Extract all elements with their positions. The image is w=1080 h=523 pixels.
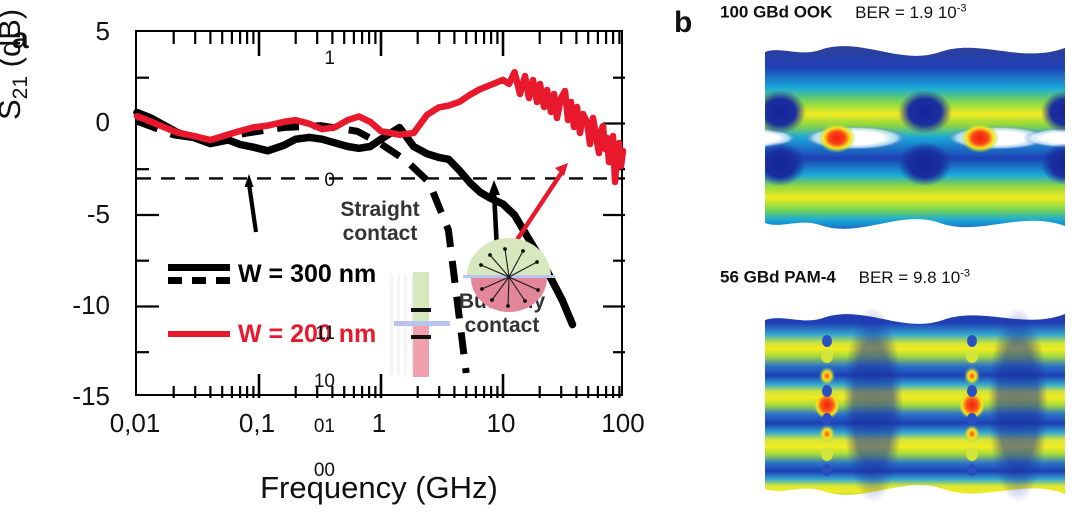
inset-straight-contact-schematic	[408, 272, 434, 377]
legend-key-dashed-black	[168, 277, 230, 284]
y-tick-label: -10	[62, 290, 110, 321]
inset-straight-upper-contact	[411, 308, 431, 312]
eye-pam4-level-label: 01	[289, 416, 335, 438]
eye-pam4-title: 56 GBd PAM-4 BER = 9.8 10-3	[720, 267, 1080, 288]
annotation-straight-contact: Straight contact	[325, 198, 435, 245]
inset-straight-upper-bar	[413, 272, 429, 324]
eye-ook-title: 100 GBd OOK BER = 1.9 10-3	[720, 2, 1080, 23]
legend-key-solid-black	[168, 264, 230, 271]
panel-a-s21-plot: a S21 (dB) 5 0 -5 -10 -15 0,01 0,1 1 10 …	[0, 0, 660, 523]
legend-row-w200: W = 200 nm	[168, 317, 376, 351]
y-axis-title: S21 (dB)	[0, 0, 33, 120]
eye-pam4-ber-exponent: -3	[960, 267, 970, 279]
eye-pam4-canvas	[765, 300, 1065, 510]
y-tick-label: -15	[62, 381, 110, 412]
annotation-straight-line1: Straight	[325, 198, 435, 222]
legend-label-w300: W = 300 nm	[238, 260, 376, 289]
eye-ook-ber-value: BER = 1.9 10	[855, 3, 957, 22]
legend-key-solid-red	[168, 331, 230, 337]
inset-straight-waveguide	[394, 321, 450, 326]
eye-ook-ber: BER = 1.9 10-3	[855, 3, 966, 22]
panel-b-label: b	[674, 6, 692, 40]
arrow-straight-contact	[245, 174, 257, 232]
panel-b-eye-diagrams: b 100 GBd OOK BER = 1.9 10-3 1 0	[660, 0, 1080, 523]
x-tick-label: 1	[372, 408, 386, 439]
inset-straight-lower-contact	[411, 335, 431, 339]
eye-ook-mode: 100 GBd OOK	[720, 3, 832, 22]
eye-pam4-ber: BER = 9.8 10-3	[859, 268, 970, 287]
butterfly-upper-lobe	[467, 238, 551, 276]
eye-ook-canvas	[765, 30, 1065, 245]
x-tick-label: 0,01	[110, 408, 161, 439]
y-tick-label: 5	[62, 16, 110, 47]
x-tick-label: 0,1	[239, 408, 275, 439]
eye-ook-level-label: 0	[289, 170, 335, 192]
annotation-straight-line2: contact	[325, 222, 435, 246]
legend-row-w300: W = 300 nm	[168, 257, 376, 291]
inset-butterfly-contact-schematic	[461, 232, 557, 316]
annotation-butterfly-line2: contact	[443, 314, 561, 338]
eye-pam4-mode: 56 GBd PAM-4	[720, 268, 836, 287]
x-tick-label: 10	[487, 408, 516, 439]
eye-pam4-level-label: 00	[289, 460, 335, 482]
plot-legend: W = 300 nm W = 200 nm	[168, 257, 376, 351]
x-tick-label: 100	[601, 408, 644, 439]
eye-pam4-level-label: 10	[289, 371, 335, 393]
x-axis-title: Frequency (GHz)	[135, 470, 623, 506]
series-w200	[137, 72, 623, 182]
legend-key-w200	[168, 331, 230, 337]
inset-straight-lower-bar	[413, 324, 429, 377]
eye-pam4-ber-value: BER = 9.8 10	[859, 268, 961, 287]
eye-ook-level-label: 1	[289, 48, 335, 70]
legend-key-w300	[168, 264, 230, 284]
y-tick-label: 0	[62, 107, 110, 138]
y-tick-label: -5	[62, 199, 110, 230]
eye-ook-ber-exponent: -3	[957, 2, 967, 14]
eye-pam4-level-label: 11	[289, 323, 335, 345]
